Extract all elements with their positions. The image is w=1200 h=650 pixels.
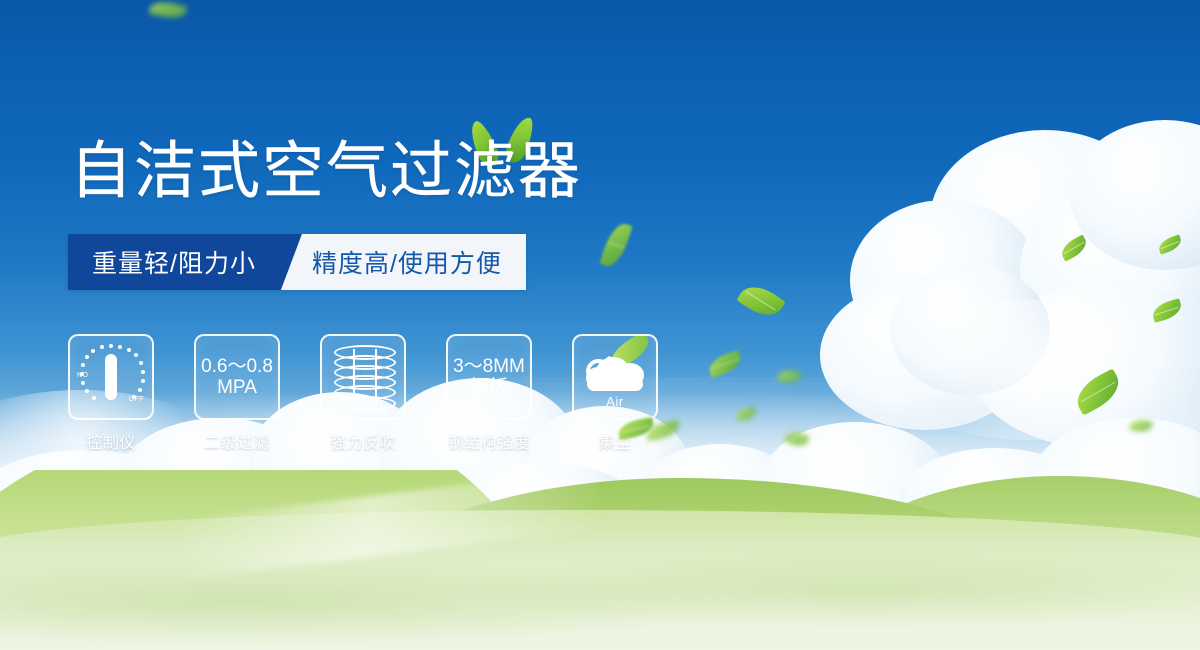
feature-item-control[interactable]: NO OFF <box>70 334 152 453</box>
hero-banner: 自洁式空气过滤器 重量轻/阻力小 精度高/使用方便 NO OFF <box>0 0 1200 650</box>
pressure-line-2: MPA <box>201 377 273 398</box>
feature-icon-box: Air <box>572 334 658 420</box>
grass-landscape <box>0 470 1200 650</box>
feature-item-blowback[interactable]: 强力反吹 <box>322 334 404 453</box>
feature-label: 二级过滤 <box>204 429 270 453</box>
feature-item-pressure[interactable]: 0.6～0.8 MPA 二级过滤 <box>196 334 278 453</box>
page-title: 自洁式空气过滤器 <box>70 141 582 203</box>
feature-icon-box: 0.6～0.8 MPA <box>194 334 280 420</box>
feature-item-dust[interactable]: Air 集尘 <box>574 334 656 453</box>
steel-line-2: 钢板 <box>453 377 525 398</box>
feature-label: 控制仪 <box>86 429 136 453</box>
pleated-filter-icon <box>334 345 392 409</box>
feature-list: NO OFF <box>70 334 656 453</box>
air-text: Air <box>582 394 648 409</box>
steel-line-1: 3～8MM <box>453 356 525 377</box>
pressure-value-icon: 0.6～0.8 MPA <box>201 356 273 399</box>
feature-icon-box: 3～8MM 钢板 <box>446 334 532 420</box>
subtitle-bar: 重量轻/阻力小 精度高/使用方便 <box>68 234 526 290</box>
feature-item-steel[interactable]: 3～8MM 钢板 钢结构强度 <box>448 334 530 453</box>
feature-icon-box <box>320 334 406 420</box>
subtitle-right: 精度高/使用方便 <box>278 234 526 290</box>
feature-icon-box: NO OFF <box>68 334 154 420</box>
feature-label: 强力反吹 <box>330 429 396 453</box>
dial-off-label: OFF <box>129 396 145 403</box>
subtitle-left: 重量轻/阻力小 <box>68 234 278 290</box>
steel-plate-icon: 3～8MM 钢板 <box>453 356 525 399</box>
dial-pointer <box>105 354 117 400</box>
pressure-line-1: 0.6～0.8 <box>201 356 273 377</box>
feature-label: 钢结构强度 <box>448 429 531 453</box>
control-dial-icon: NO OFF <box>76 342 146 412</box>
air-cloud-icon: Air <box>582 347 648 407</box>
